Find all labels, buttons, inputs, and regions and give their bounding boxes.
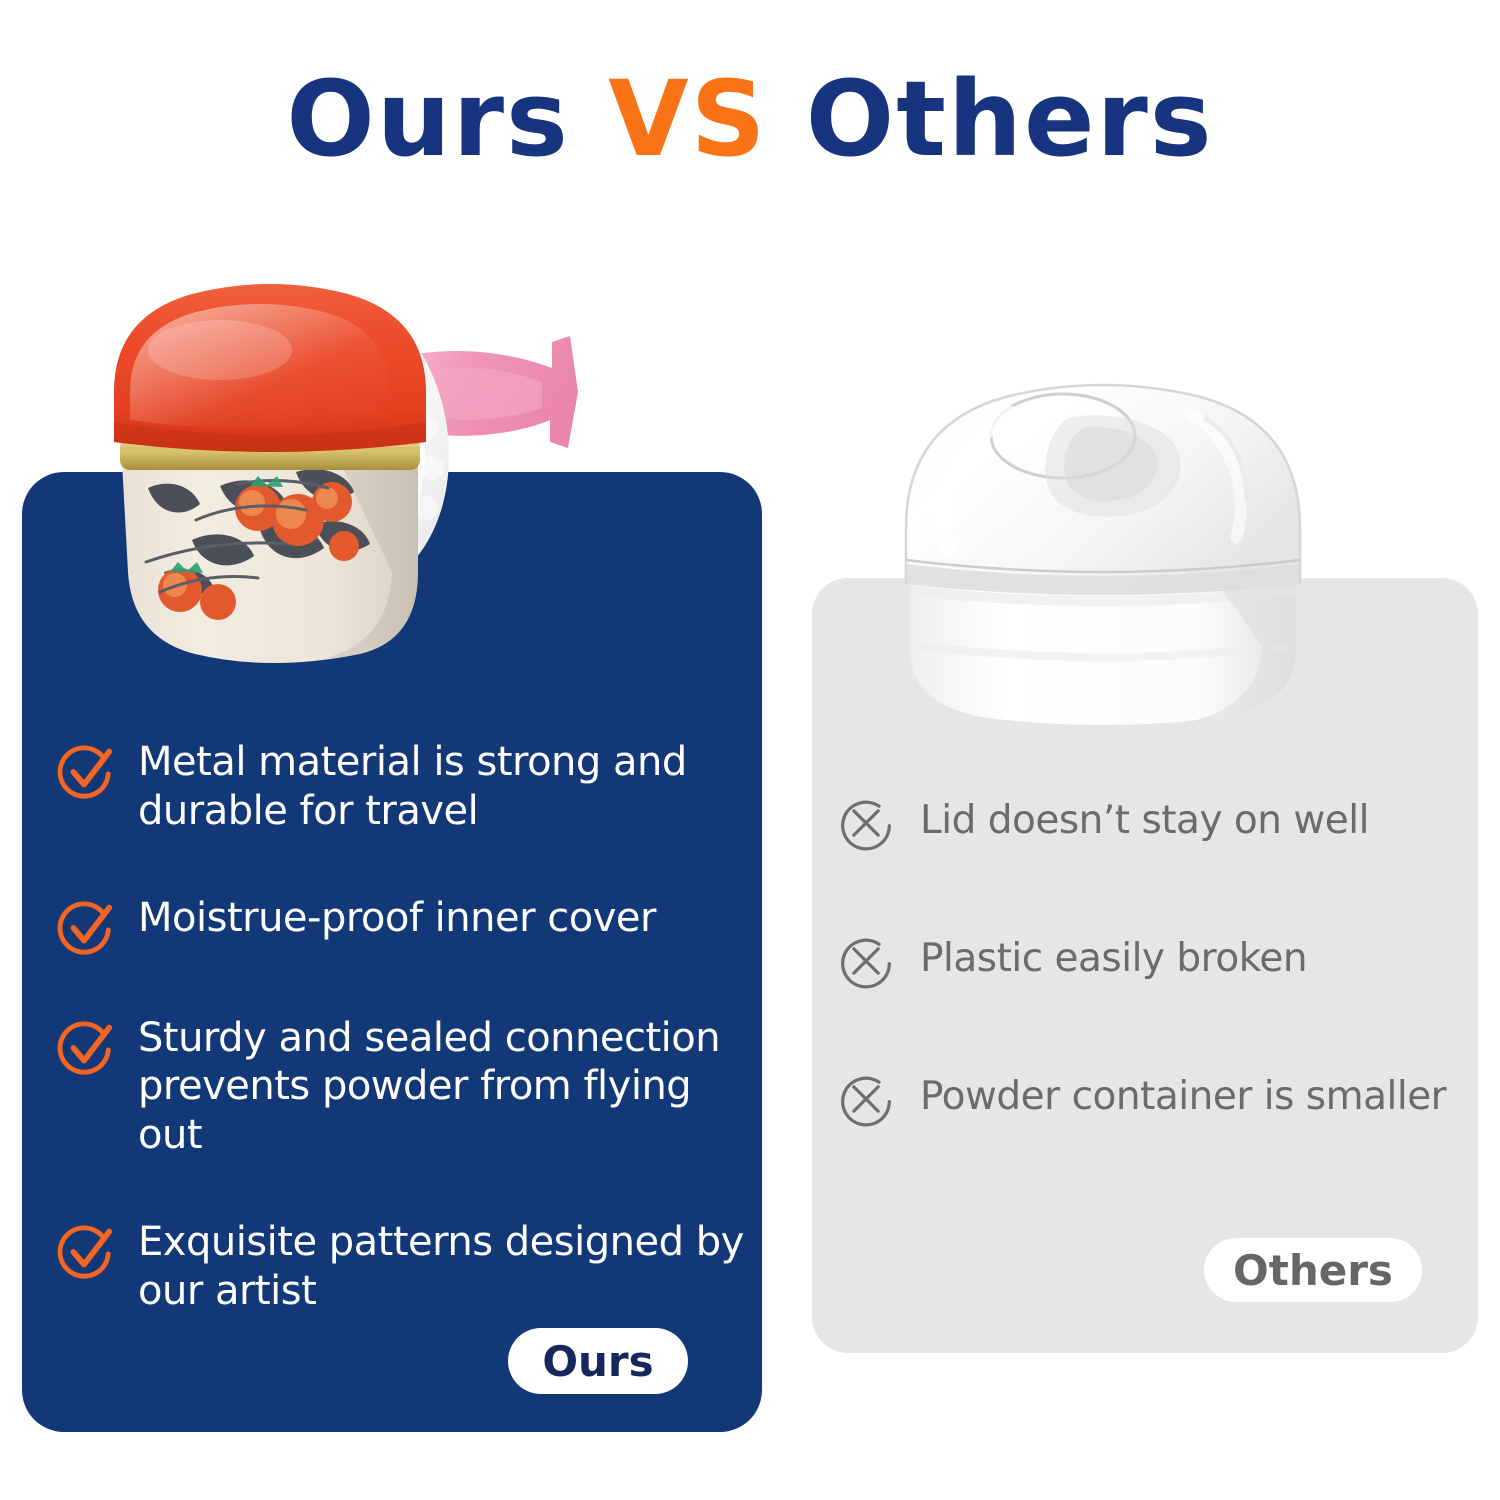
others-product-image xyxy=(888,378,1318,738)
ours-product-image xyxy=(100,272,760,692)
ours-feature-list: Metal material is strong and durable for… xyxy=(58,738,748,1374)
others-badge: Others xyxy=(1204,1238,1422,1302)
list-item: Metal material is strong and durable for… xyxy=(58,738,748,836)
feature-text: Sturdy and sealed connection prevents po… xyxy=(138,1014,748,1160)
check-circle-icon xyxy=(58,742,116,800)
feature-text: Lid doesn’t stay on well xyxy=(920,795,1369,845)
check-circle-icon xyxy=(58,1018,116,1076)
x-circle-icon xyxy=(838,933,894,989)
clear-dome-lid xyxy=(906,385,1300,595)
others-feature-list: Lid doesn’t stay on well Plastic easily … xyxy=(838,795,1468,1209)
feature-text: Powder container is smaller xyxy=(920,1071,1446,1121)
others-badge-label: Others xyxy=(1233,1246,1393,1295)
ours-badge-label: Ours xyxy=(542,1337,653,1386)
title-vs: VS xyxy=(608,58,767,180)
ours-badge: Ours xyxy=(508,1328,688,1394)
feature-text: Metal material is strong and durable for… xyxy=(138,738,748,836)
feature-text: Exquisite patterns designed by our artis… xyxy=(138,1218,748,1316)
list-item: Plastic easily broken xyxy=(838,933,1468,989)
list-item: Moistrue-proof inner cover xyxy=(58,894,748,956)
list-item: Sturdy and sealed connection prevents po… xyxy=(58,1014,748,1160)
list-item: Powder container is smaller xyxy=(838,1071,1468,1127)
feature-text: Moistrue-proof inner cover xyxy=(138,894,656,943)
page-title: Ours VS Others xyxy=(0,62,1500,176)
list-item: Exquisite patterns designed by our artis… xyxy=(58,1218,748,1316)
x-circle-icon xyxy=(838,795,894,851)
title-others: Others xyxy=(806,58,1214,180)
check-circle-icon xyxy=(58,1222,116,1280)
list-item: Lid doesn’t stay on well xyxy=(838,795,1468,851)
check-circle-icon xyxy=(58,898,116,956)
plastic-base xyxy=(910,578,1296,725)
title-ours: Ours xyxy=(286,58,570,180)
feature-text: Plastic easily broken xyxy=(920,933,1307,983)
metal-jar xyxy=(114,284,426,663)
x-circle-icon xyxy=(838,1071,894,1127)
